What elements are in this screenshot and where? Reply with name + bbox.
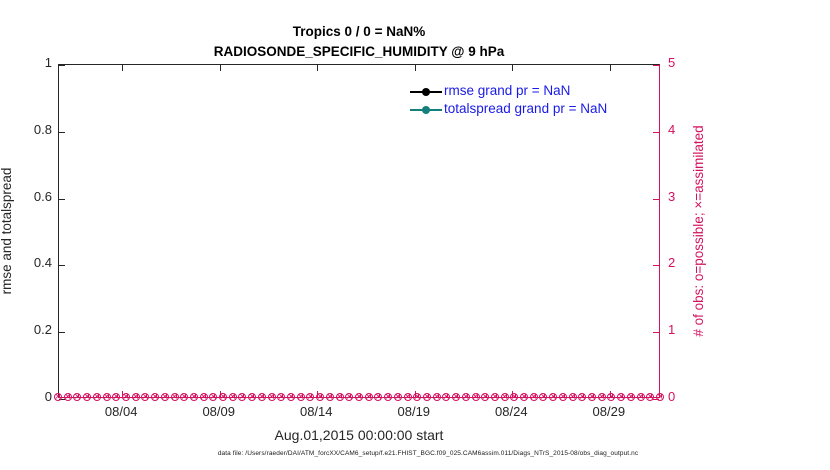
y-axis-right-tick — [653, 132, 659, 133]
y-axis-left-tick-label: 0 — [0, 389, 52, 404]
y-axis-left-tick-label: 0.8 — [0, 122, 52, 137]
y-axis-right-tick — [653, 65, 659, 66]
y-axis-right-tick-label: 2 — [668, 255, 708, 270]
y-axis-left-tick-label: 0.4 — [0, 255, 52, 270]
chart-title-line-2: RADIOSONDE_SPECIFIC_HUMIDITY @ 9 hPa — [58, 42, 660, 62]
legend-line-marker-icon — [410, 85, 442, 97]
x-axis-tick-label: 08/14 — [281, 404, 351, 419]
data-file-note: data file: /Users/raeder/DAI/ATM_forcXX/… — [58, 450, 798, 457]
y-axis-left-tick-label: 0.2 — [0, 322, 52, 337]
y-axis-left-tick — [59, 265, 65, 266]
x-axis-tick-label: 08/09 — [184, 404, 254, 419]
y-axis-left-tick — [59, 199, 65, 200]
y-axis-left-tick — [59, 332, 65, 333]
legend-circle-marker-icon — [422, 106, 430, 114]
y-axis-right-tick-label: 5 — [668, 55, 708, 70]
x-axis-tick-top — [415, 65, 416, 71]
x-axis-minor-tick — [661, 394, 662, 397]
x-axis-tick-top — [317, 65, 318, 71]
x-axis-tick-top — [220, 65, 221, 71]
y-axis-left-title: rmse and totalspread — [0, 64, 16, 398]
chart-title-line-1: Tropics 0 / 0 = NaN% — [58, 22, 660, 42]
legend-line-marker-icon — [410, 103, 442, 115]
legend-circle-marker-icon — [422, 88, 430, 96]
y-axis-left-tick — [59, 132, 65, 133]
x-axis-tick-top — [122, 65, 123, 71]
x-axis-tick-top — [610, 65, 611, 71]
y-axis-right-tick-label: 1 — [668, 322, 708, 337]
x-axis-tick-label: 08/29 — [574, 404, 644, 419]
y-axis-right-tick — [653, 332, 659, 333]
y-axis-right-tick-label: 3 — [668, 189, 708, 204]
x-axis-tick-top — [512, 65, 513, 71]
chart-title-block: Tropics 0 / 0 = NaN% RADIOSONDE_SPECIFIC… — [58, 22, 660, 62]
y-axis-right-tick-label: 0 — [668, 389, 708, 404]
y-axis-right-tick — [653, 399, 659, 400]
y-axis-left-tick — [59, 399, 65, 400]
legend-item[interactable]: totalspread grand pr = NaN — [410, 100, 654, 118]
figure-canvas: Tropics 0 / 0 = NaN% RADIOSONDE_SPECIFIC… — [0, 0, 830, 470]
legend: rmse grand pr = NaNtotalspread grand pr … — [410, 82, 654, 118]
y-axis-left-tick-label: 1 — [0, 55, 52, 70]
obs-zero-baseline — [58, 397, 660, 398]
legend-item-label: rmse grand pr = NaN — [444, 83, 570, 99]
x-axis-tick-label: 08/04 — [86, 404, 156, 419]
legend-item[interactable]: rmse grand pr = NaN — [410, 82, 654, 100]
x-axis-tick-label: 08/24 — [476, 404, 546, 419]
x-axis-tick-label: 08/19 — [379, 404, 449, 419]
y-axis-left-tick — [59, 65, 65, 66]
legend-item-label: totalspread grand pr = NaN — [444, 101, 607, 117]
y-axis-right-title: # of obs: o=possible; ×=assimilated — [690, 64, 708, 398]
x-axis-title: Aug.01,2015 00:00:00 start — [58, 427, 660, 443]
y-axis-right-tick — [653, 199, 659, 200]
y-axis-right-tick — [653, 265, 659, 266]
y-axis-right-tick-label: 4 — [668, 122, 708, 137]
y-axis-left-tick-label: 0.6 — [0, 189, 52, 204]
